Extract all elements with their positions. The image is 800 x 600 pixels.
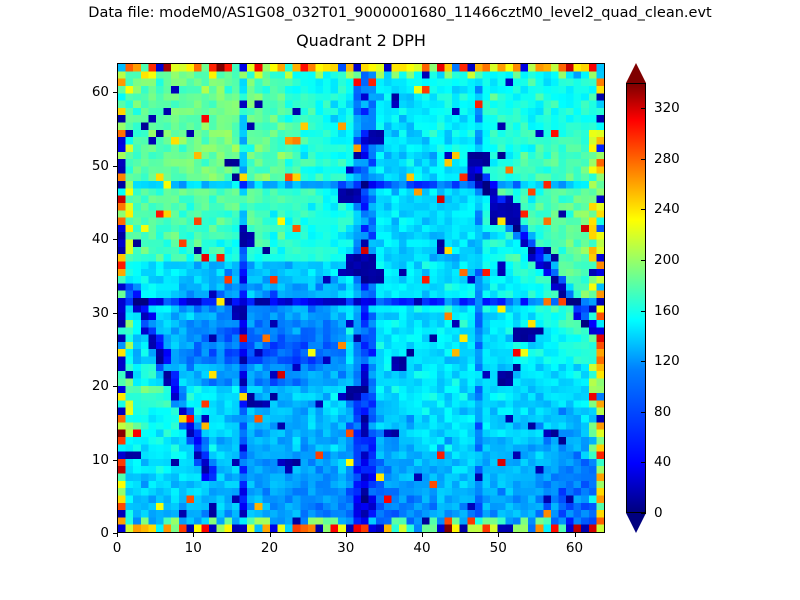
- colorbar-tick-mark: [641, 513, 646, 514]
- x-tick-mark: [422, 533, 423, 537]
- colorbar-tick-label: 200: [654, 252, 680, 268]
- axes-title: Quadrant 2 DPH: [117, 31, 605, 50]
- colorbar-under-arrow: [626, 513, 646, 533]
- y-tick-mark: [113, 239, 117, 240]
- colorbar-tick-label: 40: [654, 454, 671, 470]
- x-tick-mark: [117, 533, 118, 537]
- x-tick-label: 20: [261, 540, 278, 556]
- x-tick-label: 60: [566, 540, 583, 556]
- colorbar-tick-mark: [641, 412, 646, 413]
- heatmap-image: [118, 64, 604, 532]
- y-tick-label: 50: [69, 158, 109, 174]
- colorbar-tick-label: 240: [654, 201, 680, 217]
- colorbar-over-arrow: [626, 63, 646, 83]
- y-tick-label: 40: [69, 231, 109, 247]
- x-tick-label: 0: [113, 540, 122, 556]
- y-tick-mark: [113, 166, 117, 167]
- colorbar-tick-mark: [641, 361, 646, 362]
- x-tick-label: 40: [413, 540, 430, 556]
- figure-canvas: Data file: modeM0/AS1G08_032T01_90000016…: [0, 0, 800, 600]
- colorbar-tick-mark: [641, 159, 646, 160]
- figure-suptitle: Data file: modeM0/AS1G08_032T01_90000016…: [0, 5, 800, 21]
- colorbar-gradient: [626, 83, 646, 513]
- y-tick-label: 60: [69, 84, 109, 100]
- colorbar-tick-mark: [641, 108, 646, 109]
- y-tick-label: 20: [69, 378, 109, 394]
- y-tick-mark: [113, 313, 117, 314]
- y-tick-label: 0: [69, 525, 109, 541]
- y-tick-mark: [113, 533, 117, 534]
- y-tick-label: 10: [69, 452, 109, 468]
- colorbar-tick-label: 280: [654, 151, 680, 167]
- colorbar-tick-label: 320: [654, 100, 680, 116]
- x-tick-mark: [270, 533, 271, 537]
- x-tick-label: 30: [337, 540, 354, 556]
- y-tick-label: 30: [69, 305, 109, 321]
- x-tick-mark: [575, 533, 576, 537]
- colorbar-tick-label: 80: [654, 404, 671, 420]
- x-tick-mark: [498, 533, 499, 537]
- x-tick-mark: [346, 533, 347, 537]
- colorbar-tick-mark: [641, 311, 646, 312]
- x-tick-label: 50: [490, 540, 507, 556]
- y-tick-mark: [113, 460, 117, 461]
- x-tick-label: 10: [185, 540, 202, 556]
- colorbar-tick-mark: [641, 209, 646, 210]
- colorbar-tick-label: 160: [654, 303, 680, 319]
- x-tick-mark: [193, 533, 194, 537]
- colorbar-tick-mark: [641, 260, 646, 261]
- colorbar-tick-label: 120: [654, 353, 680, 369]
- y-tick-mark: [113, 386, 117, 387]
- heatmap-axes: [117, 63, 605, 533]
- colorbar-tick-mark: [641, 462, 646, 463]
- colorbar-tick-label: 0: [654, 505, 663, 521]
- y-tick-mark: [113, 92, 117, 93]
